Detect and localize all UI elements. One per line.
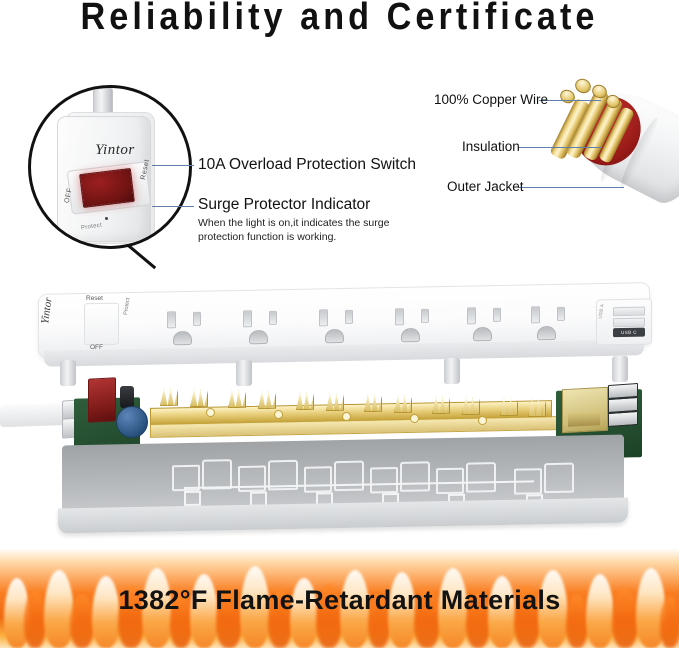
busbar-contact-clip bbox=[326, 393, 344, 411]
outlet-ground-pin bbox=[401, 328, 420, 342]
ac-outlet[interactable] bbox=[388, 302, 448, 343]
ac-outlet[interactable] bbox=[236, 304, 296, 345]
outlet-slot-right bbox=[345, 310, 353, 324]
ac-outlet[interactable] bbox=[460, 301, 520, 342]
usb-port-panel[interactable]: USB C bbox=[596, 298, 652, 345]
cavity-slot-a bbox=[370, 467, 398, 494]
rocker-switch-red bbox=[88, 377, 116, 422]
surge-varistor-blue bbox=[116, 406, 148, 438]
leader-line-surge bbox=[152, 206, 194, 207]
outlet-slot-left bbox=[467, 307, 476, 324]
outlet-slot-right bbox=[269, 311, 277, 325]
outlet-slot-right bbox=[421, 309, 429, 323]
cavity-slot-b bbox=[334, 461, 364, 492]
strip-mount-leg bbox=[60, 360, 76, 386]
callout-insulation: Insulation bbox=[462, 139, 520, 154]
outlet-slot-right bbox=[193, 312, 201, 326]
outlet-slot-left bbox=[395, 308, 404, 325]
ac-outlet[interactable] bbox=[524, 300, 584, 341]
cavity-slot-a bbox=[304, 466, 332, 493]
usb-a-port-1[interactable] bbox=[613, 307, 645, 317]
ac-outlet[interactable] bbox=[312, 303, 372, 344]
strip-power-switch[interactable] bbox=[84, 303, 119, 346]
callout-surge-sub-line2: protection function is working. bbox=[198, 230, 336, 244]
cable-cutaway-illustration bbox=[548, 62, 679, 222]
leader-line-copper bbox=[539, 100, 601, 101]
outlet-cavity bbox=[238, 457, 312, 488]
overload-switch-red bbox=[79, 168, 135, 208]
cavity-slot-b bbox=[202, 459, 232, 490]
outlet-slot-left bbox=[167, 311, 176, 328]
outlet-ground-pin bbox=[249, 330, 268, 344]
callout-surge-sub-line1: When the light is on,it indicates the su… bbox=[198, 216, 389, 230]
busbar-contact-clip bbox=[160, 388, 178, 406]
magnifier-lens: Yintor OFF Reset Protect bbox=[28, 85, 192, 249]
outlet-ground-pin bbox=[473, 327, 492, 341]
busbar-rivet bbox=[410, 414, 419, 423]
busbar-contact-clip bbox=[296, 392, 314, 410]
outlet-slot-left bbox=[243, 310, 252, 327]
busbar-rivet bbox=[206, 408, 215, 417]
busbar-rivet bbox=[478, 416, 487, 425]
cavity-slot-a bbox=[238, 465, 266, 492]
busbar-contact-clip bbox=[190, 389, 208, 407]
leader-line-jacket bbox=[518, 187, 624, 188]
leader-line-overload bbox=[152, 165, 194, 166]
busbar-contact-clip bbox=[228, 390, 246, 408]
magnifier-illustration: Yintor OFF Reset Protect bbox=[28, 85, 192, 249]
usb-port-shell-3 bbox=[608, 411, 638, 427]
capacitor-black bbox=[120, 386, 134, 408]
cavity-slot-b bbox=[466, 462, 496, 493]
cavity-slot-b bbox=[400, 461, 430, 492]
outlet-ground-pin bbox=[173, 331, 192, 345]
outlet-ground-pin bbox=[325, 329, 344, 343]
copper-strand-tip-2 bbox=[573, 76, 594, 96]
transformer-core bbox=[568, 411, 600, 427]
strip-off-label: OFF bbox=[90, 344, 103, 351]
busbar-rivet bbox=[342, 412, 351, 421]
usb-c-port[interactable]: USB C bbox=[613, 328, 645, 338]
cavity-slot-b bbox=[544, 463, 574, 494]
outlet-slot-left bbox=[319, 309, 328, 326]
busbar-rivet bbox=[274, 410, 283, 419]
callout-surge-title: Surge Protector Indicator bbox=[198, 196, 370, 214]
protect-indicator-dot bbox=[105, 217, 108, 220]
strip-mount-leg bbox=[236, 360, 252, 386]
strip-reset-label: Reset bbox=[86, 295, 103, 302]
flame-banner-text: 1382°F Flame-Retardant Materials bbox=[0, 585, 679, 616]
strip-mount-leg bbox=[612, 356, 628, 382]
outlet-slot-right bbox=[493, 308, 501, 322]
callout-copper-wire: 100% Copper Wire bbox=[434, 92, 548, 107]
busbar-contact-clip bbox=[258, 391, 276, 409]
cavity-slot-c bbox=[184, 491, 201, 506]
outlet-cavity bbox=[436, 459, 510, 490]
ac-outlet[interactable] bbox=[160, 305, 220, 346]
outlet-slot-left bbox=[531, 306, 540, 323]
page-title: Reliability and Certificate bbox=[34, 0, 645, 39]
outlet-cavity bbox=[172, 456, 246, 487]
outlet-slot-right bbox=[557, 307, 565, 321]
leader-line-insulation bbox=[518, 147, 602, 148]
strip-mount-leg bbox=[444, 358, 460, 384]
callout-overload-title: 10A Overload Protection Switch bbox=[198, 156, 416, 174]
usb-a-port-2[interactable] bbox=[613, 318, 645, 328]
outlet-ground-pin bbox=[537, 326, 556, 340]
callout-outer-jacket: Outer Jacket bbox=[447, 179, 524, 194]
magnifier-brand-label: Yintor bbox=[77, 142, 153, 159]
outlet-cavity bbox=[514, 459, 588, 490]
